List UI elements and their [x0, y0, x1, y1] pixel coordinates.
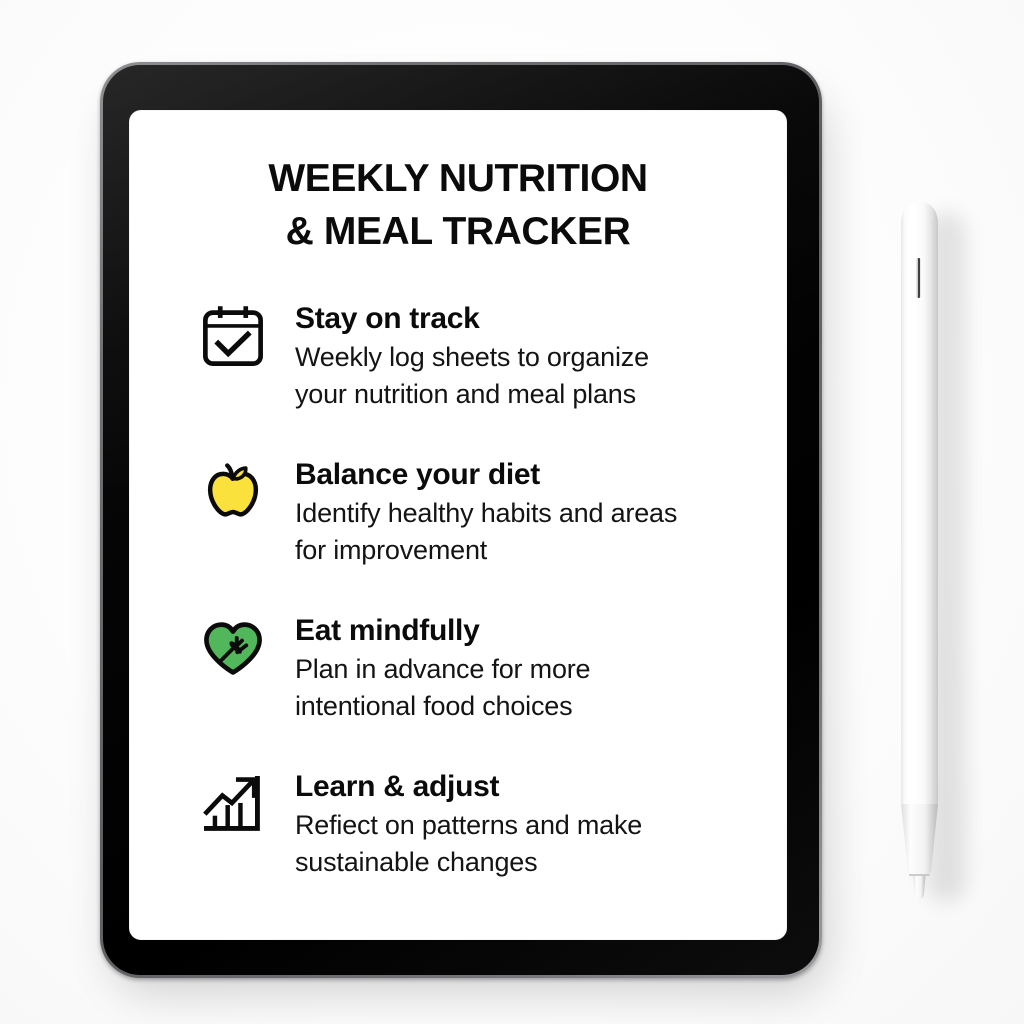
feature-text-balance-your-diet: Balance your diet Identify healthy habit… [269, 456, 695, 569]
feature-title: Learn & adjust [295, 769, 695, 804]
calendar-check-icon [197, 300, 269, 376]
feature-text-eat-mindfully: Eat mindfully Plan in advance for more i… [269, 612, 695, 725]
tablet-screen[interactable]: WEEKLY NUTRITION & MEAL TRACKER [129, 110, 787, 940]
page-title: WEEKLY NUTRITION & MEAL TRACKER [165, 152, 751, 258]
feature-text-stay-on-track: Stay on track Weekly log sheets to organ… [269, 300, 695, 413]
tablet-device[interactable]: WEEKLY NUTRITION & MEAL TRACKER [100, 62, 822, 978]
feature-item-stay-on-track[interactable]: Stay on track Weekly log sheets to organ… [197, 300, 751, 413]
feature-title: Eat mindfully [295, 613, 695, 648]
feature-description: Refiect on patterns and make sustainable… [295, 807, 695, 881]
tablet-bezel: WEEKLY NUTRITION & MEAL TRACKER [103, 65, 819, 975]
feature-item-balance-your-diet[interactable]: Balance your diet Identify healthy habit… [197, 456, 751, 569]
growth-chart-icon [197, 768, 269, 844]
feature-title: Stay on track [295, 301, 695, 336]
feature-item-eat-mindfully[interactable]: Eat mindfully Plan in advance for more i… [197, 612, 751, 725]
feature-description: Plan in advance for more intentional foo… [295, 651, 695, 725]
page-title-line-1: WEEKLY NUTRITION [165, 152, 751, 205]
heart-fork-icon [197, 612, 269, 688]
stylus-pen[interactable] [899, 200, 946, 900]
scene-canvas: WEEKLY NUTRITION & MEAL TRACKER [0, 0, 1024, 1024]
feature-title: Balance your diet [295, 457, 695, 492]
screen-content: WEEKLY NUTRITION & MEAL TRACKER [129, 110, 787, 940]
feature-description: Identify healthy habits and areas for im… [295, 495, 695, 569]
page-title-line-2: & MEAL TRACKER [165, 205, 751, 258]
feature-description: Weekly log sheets to organize your nutri… [295, 339, 695, 413]
apple-icon [197, 456, 269, 532]
feature-item-learn-and-adjust[interactable]: Learn & adjust Refiect on patterns and m… [197, 768, 751, 881]
feature-list: Stay on track Weekly log sheets to organ… [165, 300, 751, 881]
feature-text-learn-and-adjust: Learn & adjust Refiect on patterns and m… [269, 768, 695, 881]
